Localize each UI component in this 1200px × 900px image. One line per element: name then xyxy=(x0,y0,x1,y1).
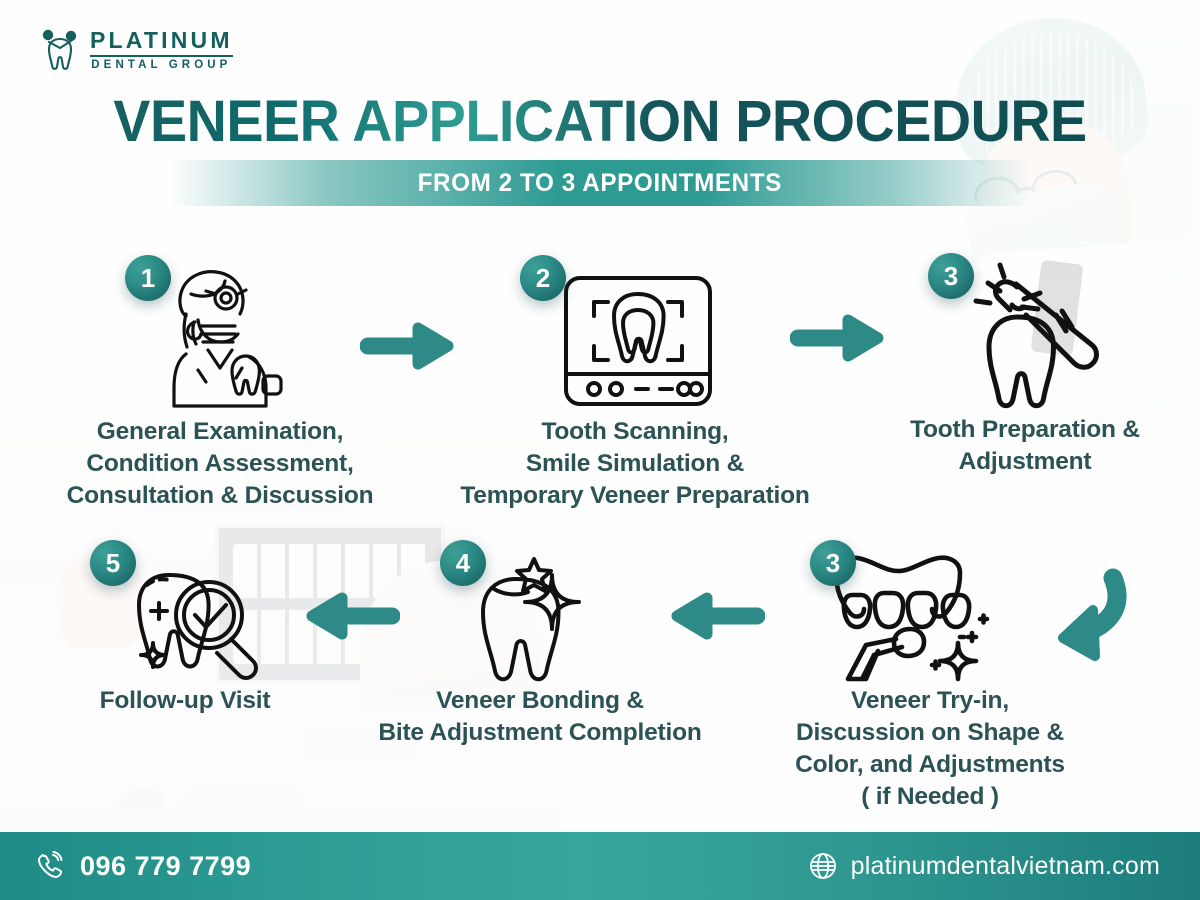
step-4-caption: Veneer Bonding & Bite Adjustment Complet… xyxy=(340,685,740,749)
phone-ringing-icon xyxy=(36,851,66,881)
step-3-bottom-caption: Veneer Try-in, Discussion on Shape & Col… xyxy=(760,685,1100,812)
step-2-caption: Tooth Scanning, Smile Simulation & Tempo… xyxy=(420,416,850,512)
step-5-badge: 5 xyxy=(90,540,136,586)
step-2[interactable]: 2 Tooth Scanning, Smile Simulation & Tem… xyxy=(420,250,850,512)
step-3-bottom-badge: 3 xyxy=(810,540,856,586)
step-3-bottom[interactable]: 3 Veneer Tr xyxy=(760,535,1100,812)
step-3-top-badge: 3 xyxy=(928,253,974,299)
footer-bar: 096 779 7799 platinumdentalvietnam.com xyxy=(0,832,1200,900)
logo-name: PLATINUM xyxy=(90,29,233,52)
footer-phone[interactable]: 096 779 7799 xyxy=(36,851,251,882)
logo-subtitle: DENTAL GROUP xyxy=(90,60,233,72)
step-4-badge: 4 xyxy=(440,540,486,586)
dental-drill-tooth-icon xyxy=(960,259,1130,409)
step-1-caption: General Examination, Condition Assessmen… xyxy=(20,416,420,512)
footer-website[interactable]: platinumdentalvietnam.com xyxy=(809,852,1160,881)
step-4[interactable]: 4 Veneer Bonding & Bite Adjustment Compl… xyxy=(340,535,740,749)
website-url: platinumdentalvietnam.com xyxy=(851,852,1160,881)
phone-number: 096 779 7799 xyxy=(80,851,251,882)
page-title: VENEER APPLICATION PROCEDURE xyxy=(24,88,1176,155)
step-5[interactable]: 5 Follow-up Visit xyxy=(20,535,350,717)
tooth-scanner-monitor-icon xyxy=(558,270,718,420)
subtitle-banner: FROM 2 TO 3 APPOINTMENTS xyxy=(170,160,1030,206)
tooth-with-figures-icon xyxy=(40,28,80,72)
brand-logo: PLATINUM DENTAL GROUP xyxy=(40,28,233,72)
step-2-badge: 2 xyxy=(520,255,566,301)
step-3-top-caption: Tooth Preparation & Adjustment xyxy=(860,414,1190,478)
tooth-magnifier-check-icon xyxy=(125,553,275,698)
logo-divider xyxy=(90,55,233,57)
dentist-with-tooth-icon xyxy=(150,264,290,414)
page-subtitle: FROM 2 TO 3 APPOINTMENTS xyxy=(418,169,782,198)
step-1-badge: 1 xyxy=(125,255,171,301)
globe-icon xyxy=(809,852,837,880)
infographic-poster: PLATINUM DENTAL GROUP VENEER APPLICATION… xyxy=(0,0,1200,900)
step-3-top[interactable]: 3 Tooth Preparation & Adjustment xyxy=(860,245,1190,478)
step-1[interactable]: 1 xyxy=(20,250,420,512)
